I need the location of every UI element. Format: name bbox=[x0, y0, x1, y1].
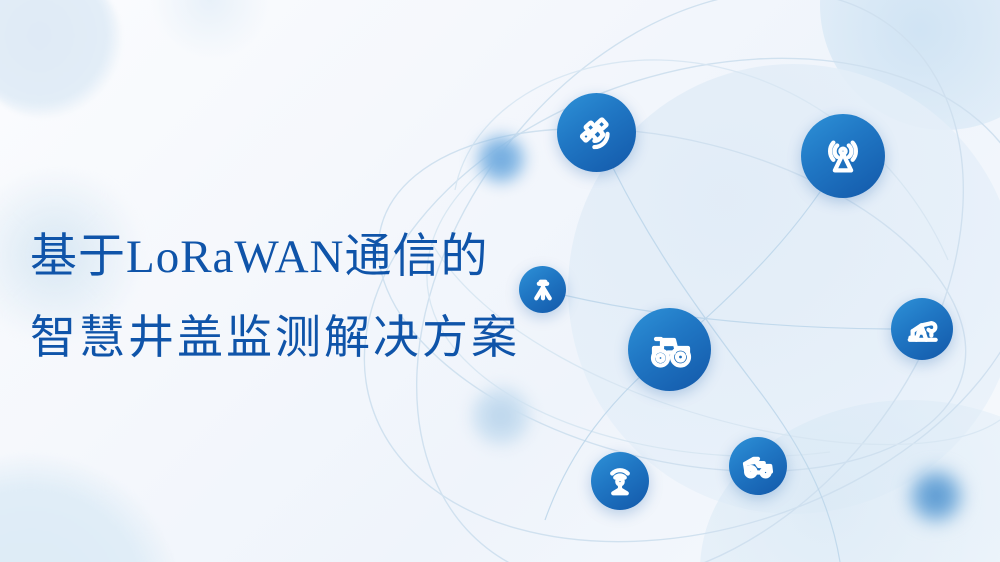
title-line-1: 基于LoRaWAN通信的 bbox=[30, 228, 570, 286]
node-oil-pumpjack[interactable] bbox=[891, 298, 953, 360]
oil-pumpjack-icon bbox=[904, 311, 940, 347]
node-satellite[interactable] bbox=[557, 93, 636, 172]
title-block: 基于LoRaWAN通信的 智慧井盖监测解决方案 bbox=[30, 228, 570, 366]
radio-tower-icon bbox=[819, 132, 867, 180]
node-harvester[interactable] bbox=[729, 437, 787, 495]
slide-canvas: 基于LoRaWAN通信的 智慧井盖监测解决方案 bbox=[0, 0, 1000, 562]
node-signal-beacon[interactable] bbox=[591, 452, 649, 510]
node-radio-tower[interactable] bbox=[801, 114, 885, 198]
signal-beacon-icon bbox=[603, 464, 637, 498]
satellite-signal-icon bbox=[575, 111, 619, 155]
node-tractor[interactable] bbox=[628, 308, 711, 391]
title-line-2: 智慧井盖监测解决方案 bbox=[30, 308, 570, 366]
harvester-icon bbox=[740, 448, 776, 484]
tractor-icon bbox=[645, 325, 695, 375]
